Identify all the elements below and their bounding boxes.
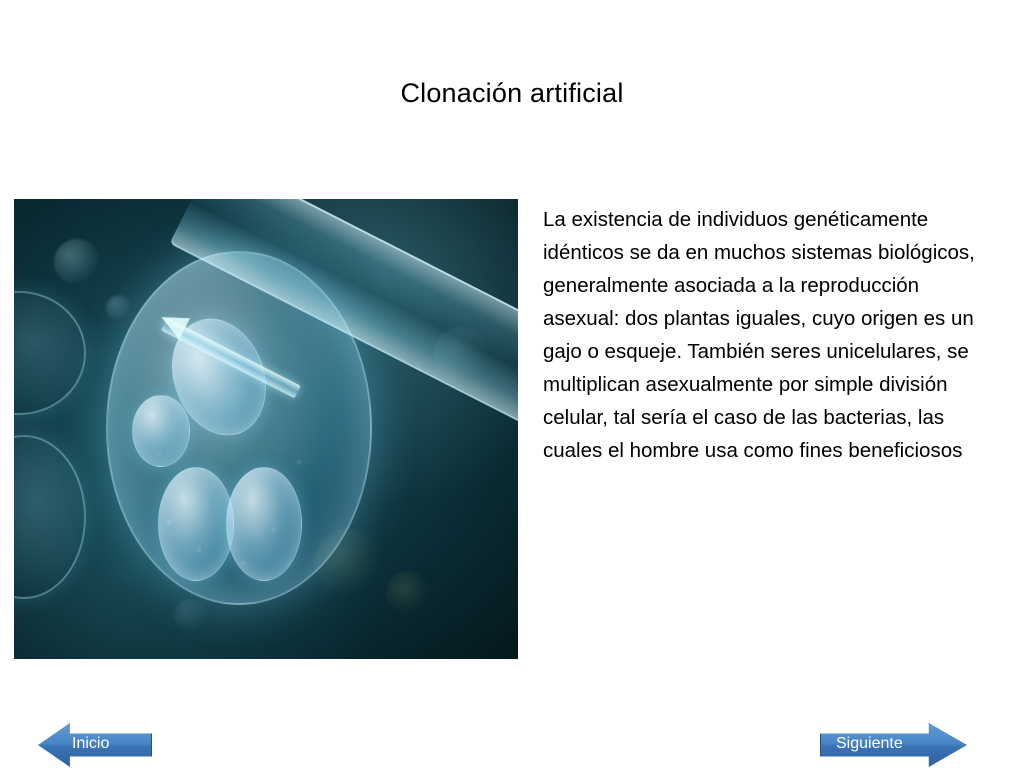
next-button-label: Siguiente	[836, 735, 903, 753]
page-title: Clonación artificial	[0, 78, 1024, 109]
next-button[interactable]: Siguiente	[820, 723, 965, 765]
bokeh-circle	[386, 571, 430, 615]
inner-cell	[158, 467, 234, 581]
inner-cell	[132, 395, 190, 467]
back-button[interactable]: Inicio	[38, 723, 150, 765]
bokeh-circle	[174, 599, 208, 633]
bokeh-circle	[314, 529, 382, 597]
slide: Clonación artificial La existencia de in…	[0, 0, 1024, 768]
inner-cell	[226, 467, 302, 581]
back-button-label: Inicio	[72, 735, 109, 753]
bokeh-circle	[106, 295, 132, 321]
cell-cloning-micromanipulation-image	[14, 199, 518, 659]
body-paragraph: La existencia de individuos genéticament…	[543, 203, 979, 467]
bokeh-circle	[54, 239, 100, 285]
